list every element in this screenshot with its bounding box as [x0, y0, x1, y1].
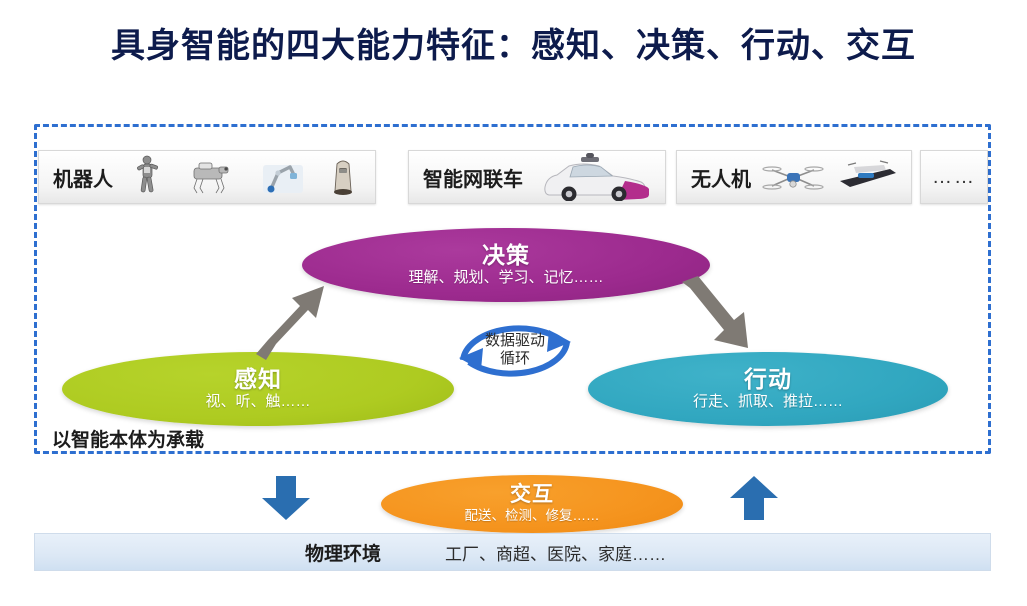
capability-title-action: 行动: [744, 367, 792, 391]
robot-arm-icon: [261, 157, 305, 197]
carrier-label-drone: 无人机: [677, 163, 757, 192]
page-title: 具身智能的四大能力特征：感知、决策、行动、交互: [0, 18, 1027, 67]
quadcopter-drone-icon: [762, 158, 824, 196]
data-driven-loop: 数据驱动 循环: [441, 308, 589, 392]
carrier-icons-vehicle: [529, 151, 665, 203]
carrier-box-drone[interactable]: 无人机: [676, 150, 912, 204]
capability-subtitle-decision: 理解、规划、学习、记忆……: [408, 269, 603, 287]
capability-ellipse-interaction[interactable]: 交互 配送、检测、修复……: [381, 475, 683, 533]
physical-environment-bar[interactable]: 物理环境 工厂、商超、医院、家庭……: [34, 533, 991, 571]
carrier-caption: 以智能本体为承载: [52, 425, 204, 452]
carrier-box-vehicle[interactable]: 智能网联车: [408, 150, 666, 204]
carrier-icons-robot: [119, 151, 375, 203]
arrow-down-to-environment-icon: [258, 474, 314, 527]
humanoid-robot-icon: [132, 155, 160, 199]
circular-arrows-icon: [441, 308, 589, 392]
capability-subtitle-action: 行走、抓取、推拉……: [693, 393, 843, 411]
capability-title-interaction: 交互: [510, 484, 554, 506]
carrier-label-etc: ……: [921, 166, 987, 189]
carrier-icons-drone: [757, 151, 911, 203]
capability-title-perception: 感知: [234, 367, 282, 391]
arrow-decision-to-action-icon: [668, 272, 768, 367]
capability-title-decision: 决策: [482, 243, 530, 267]
capability-ellipse-action[interactable]: 行动 行走、抓取、推拉……: [588, 352, 948, 426]
arrow-perception-to-decision-icon: [248, 272, 348, 367]
carrier-box-etc[interactable]: ……: [920, 150, 988, 204]
carrier-label-robot: 机器人: [39, 163, 119, 192]
capability-subtitle-perception: 视、听、触……: [205, 393, 310, 411]
environment-items: 工厂、商超、医院、家庭……: [445, 540, 666, 565]
robot-dog-icon: [185, 159, 235, 195]
fixed-wing-drone-icon: [834, 157, 900, 197]
arrow-up-from-environment-icon: [726, 474, 782, 527]
autonomous-car-icon: [539, 153, 649, 201]
carrier-label-vehicle: 智能网联车: [409, 163, 529, 192]
carrier-box-robot[interactable]: 机器人: [38, 150, 376, 204]
capability-ellipse-decision[interactable]: 决策 理解、规划、学习、记忆……: [302, 228, 710, 302]
environment-title: 物理环境: [305, 539, 381, 566]
capability-subtitle-interaction: 配送、检测、修复……: [465, 508, 600, 524]
service-robot-icon: [330, 156, 356, 198]
